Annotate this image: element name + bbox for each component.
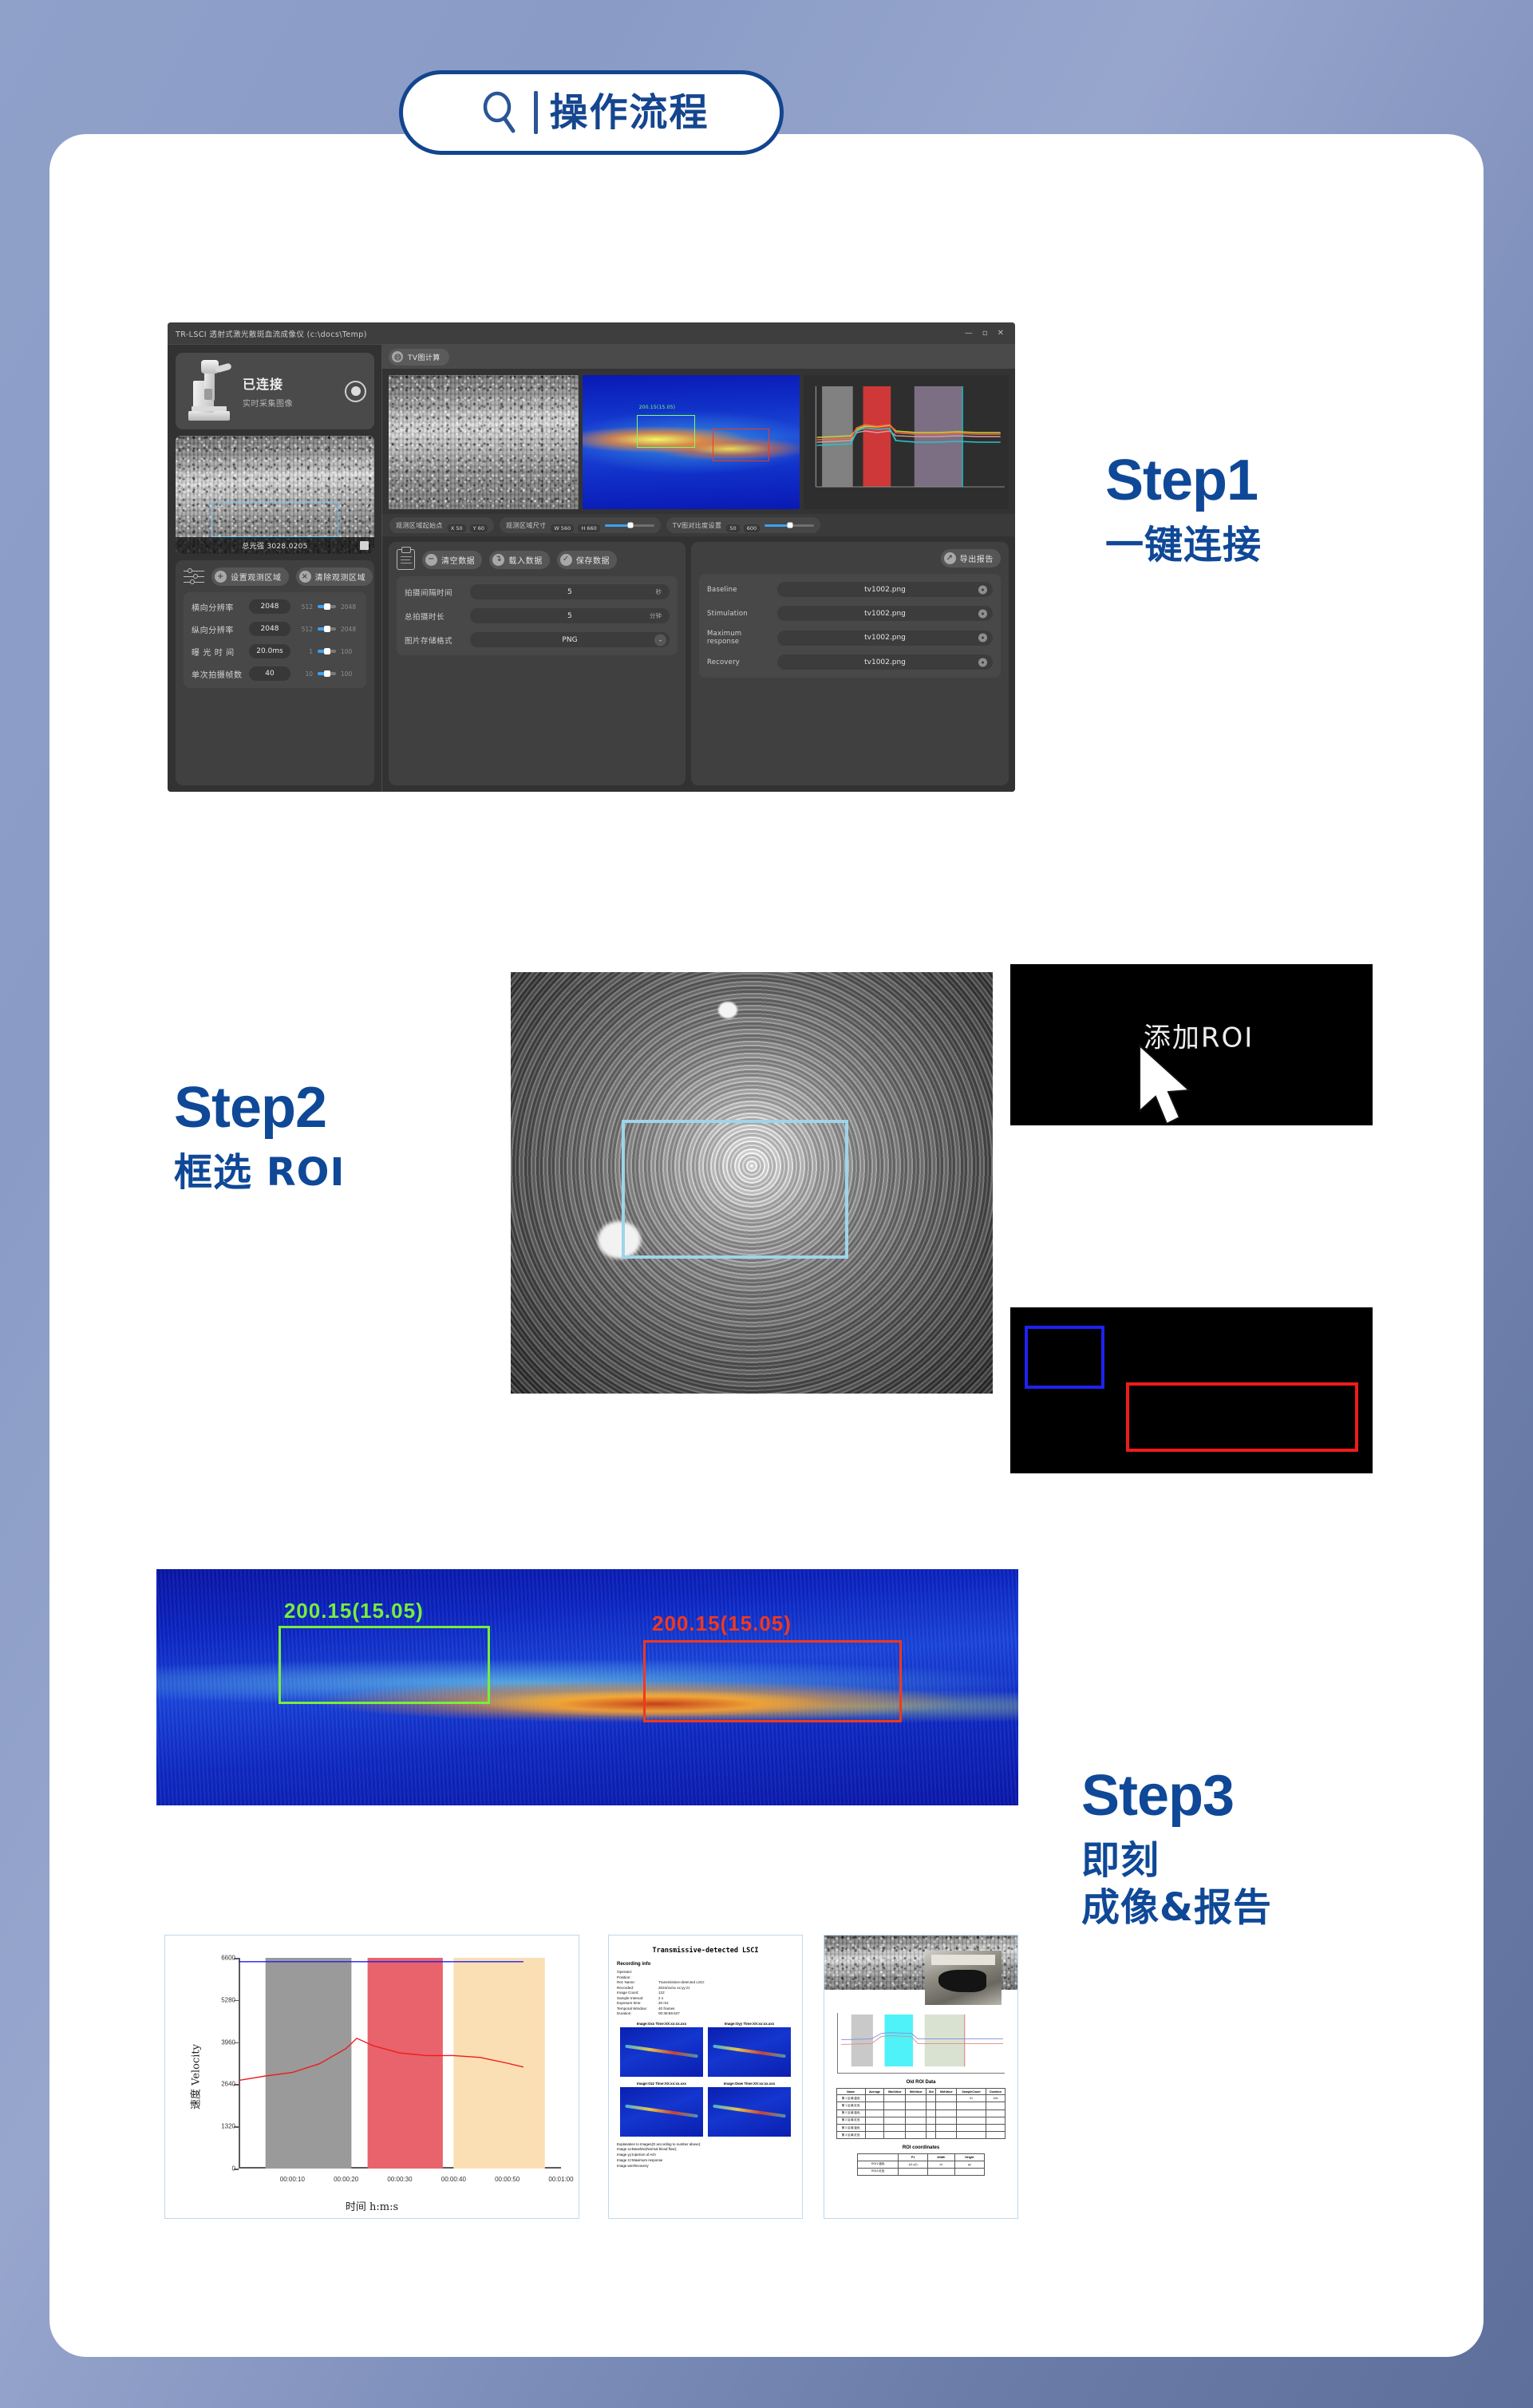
- table-cell: [899, 2168, 928, 2175]
- clear-roi-label: 清除观测区域: [315, 571, 366, 583]
- export-row: ↗ 导出报告: [699, 549, 1001, 567]
- load-data-label: 载入数据: [508, 554, 542, 566]
- step3-heatmap[interactable]: 200.15(15.05) 200.15(15.05): [156, 1569, 1018, 1805]
- report1-field: Exposure time:20 ms: [617, 2001, 802, 2005]
- table-cell: [884, 2117, 906, 2124]
- normal-picture: [925, 1951, 1002, 2005]
- record-icon[interactable]: [345, 381, 366, 402]
- preview-roi-box[interactable]: [211, 502, 338, 537]
- export-report-button[interactable]: ↗ 导出报告: [941, 549, 1001, 567]
- tv-contrast-min[interactable]: 50: [726, 524, 739, 532]
- recovery-row[interactable]: Recovery tv1002.png: [707, 654, 993, 670]
- report1-image-cell: Image:Oww Time:XX:xx:xx.xxx: [708, 2082, 791, 2137]
- table-row: ROI1:蓝色(x1,y1)xxyy: [858, 2161, 985, 2168]
- chart-xtick: 00:01:00: [548, 2176, 573, 2183]
- table-cell: 21: [957, 2095, 986, 2102]
- load-data-button[interactable]: ↴ 载入数据: [489, 551, 549, 569]
- table-cell: [936, 2132, 957, 2139]
- maximum-response-input[interactable]: tv1002.png: [777, 631, 993, 646]
- capture-interval-input[interactable]: 5 秒: [470, 584, 670, 599]
- table-header: Name: [836, 2089, 865, 2095]
- tv-contrast-label: TV图对比度设置: [673, 521, 722, 530]
- step2-speckle-image[interactable]: [511, 972, 993, 1394]
- plus-icon: +: [215, 571, 227, 583]
- page-header-pill: 操作流程: [399, 70, 784, 155]
- table-cell: [957, 2117, 986, 2124]
- timeline-chart-svg: [804, 375, 1009, 509]
- check-circle-icon: ✓: [560, 554, 572, 566]
- table-cell: [906, 2124, 927, 2131]
- capture-duration-input[interactable]: 5 分钟: [470, 608, 670, 623]
- report1-image-cell: Image:Ozz Time:XX:xx:xx.xxx: [620, 2082, 703, 2137]
- heatmap-roi-red[interactable]: [713, 429, 769, 461]
- tab-label: TV图计算: [408, 352, 441, 362]
- slider-value[interactable]: 40: [249, 666, 290, 681]
- capture-duration-label: 总拍摄时长: [405, 611, 464, 622]
- roi-origin-y[interactable]: Y 60: [470, 524, 488, 532]
- connection-card[interactable]: 已连接 实时采集图像: [176, 353, 374, 429]
- step2-number: Step2: [174, 1079, 345, 1137]
- capture-interval-label: 拍摄间隔时间: [405, 587, 464, 598]
- report1-explanation-line: Image xx:Baseline(Normal blood flow);: [617, 2147, 802, 2153]
- report1-explanation-line: Explanation to Images(O according to num…: [617, 2142, 802, 2148]
- heatmap-roi-label: 200.15(15.05): [639, 405, 675, 410]
- set-roi-label: 设置观测区域: [231, 571, 282, 583]
- timeline-chart[interactable]: [804, 375, 1009, 509]
- bottom-area: − 清空数据 ↴ 载入数据 ✓ 保存数据: [382, 536, 1015, 792]
- main-area: TV图计算 200.15(15.05): [381, 345, 1015, 792]
- step3-number: Step3: [1081, 1767, 1272, 1825]
- step1-text-block: Step1 一键连接: [1105, 452, 1262, 569]
- report-panel: ↗ 导出报告 Baseline tv1002.png: [691, 542, 1009, 785]
- minimize-button[interactable]: —: [965, 330, 973, 338]
- tv-contrast-group[interactable]: TV图对比度设置 50 600: [666, 517, 820, 533]
- table-cell: [884, 2109, 906, 2117]
- slider-min: 1: [295, 648, 313, 655]
- tv-contrast-max[interactable]: 600: [744, 524, 760, 532]
- roi-size-group[interactable]: 观测区域尺寸 W 560 H 660: [500, 517, 661, 533]
- report1-caption: Image:Oyy Time:XX:xx:xx.xxx: [708, 2022, 791, 2026]
- table-header: MaxValue: [884, 2089, 906, 2095]
- report1-title: Transmissive-detected LSCI: [609, 1947, 802, 1955]
- baseline-value: tv1002.png: [864, 586, 906, 594]
- tabbar: TV图计算: [382, 345, 1015, 369]
- table-row: 第 3 区域:蓝色: [836, 2124, 1006, 2131]
- table-cell: ROI2:红色: [858, 2168, 899, 2175]
- table-cell: [954, 2168, 984, 2175]
- step2-subtitle: 框选 ROI: [174, 1149, 345, 1196]
- maximum-response-value: tv1002.png: [864, 634, 906, 642]
- slider-value[interactable]: 2048: [249, 622, 290, 636]
- report1-explanation-line: Image ww:Recovery: [617, 2164, 802, 2169]
- table-cell: [884, 2102, 906, 2109]
- table-cell: 42s: [986, 2095, 1006, 2102]
- velocity-chart[interactable]: 速度 Velocity 时间 h:m:s 0132026403960528066…: [164, 1935, 579, 2219]
- minus-circle-icon: −: [425, 554, 437, 566]
- step3-subtitle-line2: 成像&报告: [1081, 1884, 1272, 1932]
- table-cell: [957, 2109, 986, 2117]
- window-body: 已连接 实时采集图像 总光强 3028.0205: [168, 345, 1015, 792]
- roi-size-h[interactable]: H 660: [578, 524, 599, 532]
- acquisition-controls: + 设置观测区域 × 清除观测区域 横向分辨率 2048 512 2048: [176, 560, 374, 785]
- report1-field: Recorded:2024/xx/xx xx:yy:zz: [617, 1986, 802, 1990]
- slider-label: 单次拍摄帧数: [192, 668, 244, 680]
- step3-text-block: Step3 即刻 成像&报告: [1081, 1767, 1272, 1931]
- roi-coordinates-table: P1WidthHeightROI1:蓝色(x1,y1)xxyyROI2:红色: [857, 2153, 985, 2176]
- browse-icon[interactable]: [978, 609, 987, 618]
- maximize-button[interactable]: ▫: [982, 330, 988, 338]
- table-cell: [865, 2117, 884, 2124]
- table-cell: 第 2 区域:红色: [836, 2117, 865, 2124]
- speckle-view[interactable]: [389, 375, 579, 509]
- table-cell: [957, 2124, 986, 2131]
- preview-corner-marker: [360, 541, 369, 550]
- table-header: MidValue: [936, 2089, 957, 2095]
- baseline-label: Baseline: [707, 586, 771, 594]
- stimulation-value: tv1002.png: [864, 610, 906, 618]
- report1-field: Image Count:122: [617, 1991, 802, 1995]
- slider-min: 512: [295, 603, 313, 611]
- stimulation-label: Stimulation: [707, 610, 771, 618]
- chart-xtick: 00:00:50: [495, 2176, 520, 2183]
- table-row: 第 1 区域:蓝色2142s: [836, 2095, 1006, 2102]
- table-row: 第 2 区域:红色: [836, 2117, 1006, 2124]
- baseline-input[interactable]: tv1002.png: [777, 582, 993, 597]
- roi-box-green[interactable]: [279, 1626, 490, 1704]
- report2-chart: [837, 2013, 1005, 2074]
- sliders-icon: [184, 568, 204, 586]
- table-cell: [906, 2095, 927, 2102]
- search-icon: [473, 88, 526, 137]
- close-icon: ×: [299, 571, 311, 583]
- capture-duration-row[interactable]: 总拍摄时长 5 分钟: [405, 608, 670, 623]
- roi-size-slider[interactable]: [605, 524, 654, 527]
- report1-section: Recording info: [617, 1962, 802, 1967]
- recovery-input[interactable]: tv1002.png: [777, 654, 993, 670]
- capture-duration-value: 5: [567, 612, 572, 620]
- stimulation-row[interactable]: Stimulation tv1002.png: [707, 606, 993, 621]
- slider-label: 曝 光 时 间: [192, 646, 244, 658]
- window-controls: — ▫ ✕: [965, 330, 1007, 338]
- slider-track[interactable]: [318, 650, 336, 653]
- table-cell: [986, 2109, 1006, 2117]
- step1-number: Step1: [1105, 452, 1262, 509]
- table-header: Duration: [986, 2089, 1006, 2095]
- save-data-button[interactable]: ✓ 保存数据: [557, 551, 617, 569]
- table-header: [858, 2154, 899, 2161]
- report-thumbnail-2[interactable]: Speckle Picture Normal Picture Old ROI D…: [824, 1935, 1018, 2219]
- report1-field: Duration:00:38:59.527: [617, 2011, 802, 2015]
- sidebar: 已连接 实时采集图像 总光强 3028.0205: [168, 345, 381, 792]
- roi-origin-label: 观测区域起始点: [396, 521, 443, 530]
- tab-tv-calc[interactable]: TV图计算: [389, 349, 449, 366]
- table-row: 第 2 区域:蓝色: [836, 2109, 1006, 2117]
- table-row: ROI2:红色: [858, 2168, 985, 2175]
- table-header: Width: [927, 2154, 954, 2161]
- report1-images: Image:Oxx Time:XX:xx:xx.xxx Image:Oyy Ti…: [609, 2017, 802, 2137]
- lsci-thumbnail: [708, 2027, 791, 2077]
- slider-track[interactable]: [318, 672, 336, 675]
- slider-max: 100: [341, 648, 358, 655]
- slider-label: 纵向分辨率: [192, 623, 244, 635]
- chart-ytick: 2640: [208, 2081, 235, 2088]
- table-cell: [936, 2095, 957, 2102]
- chart-ytick: 1320: [208, 2123, 235, 2130]
- microscope-icon: [184, 360, 236, 422]
- table-cell: [884, 2124, 906, 2131]
- slider-row-v-resolution[interactable]: 纵向分辨率 2048 512 2048: [192, 622, 358, 636]
- roi-selection-box[interactable]: [622, 1120, 848, 1259]
- recovery-label: Recovery: [707, 658, 771, 666]
- table-cell: [906, 2109, 927, 2117]
- table-cell: [927, 2132, 936, 2139]
- step1-subtitle: 一键连接: [1105, 522, 1262, 569]
- table-cell: [884, 2095, 906, 2102]
- tv-contrast-slider[interactable]: [765, 524, 814, 527]
- table-cell: [865, 2109, 884, 2117]
- old-roi-data-table: NameAverageMaxValueMinValueStdMidValueSa…: [836, 2088, 1006, 2139]
- table-cell: [957, 2102, 986, 2109]
- slider-max: 100: [341, 670, 358, 678]
- report1-caption: Image:Ozz Time:XX:xx:xx.xxx: [620, 2082, 703, 2086]
- save-data-label: 保存数据: [576, 554, 610, 566]
- tv-calc-icon: [392, 351, 403, 362]
- chart-ytick: 0: [208, 2165, 235, 2173]
- lsci-thumbnail: [708, 2087, 791, 2137]
- roi-boxes-preview[interactable]: [1010, 1307, 1373, 1473]
- header-divider: [534, 91, 538, 134]
- chart-svg: [239, 1958, 561, 2169]
- table-row: 第 1 区域:红色: [836, 2102, 1006, 2109]
- table-cell: [936, 2102, 957, 2109]
- chart-ytick: 3960: [208, 2038, 235, 2046]
- page-title: 操作流程: [549, 93, 709, 132]
- table-cell: [927, 2102, 936, 2109]
- add-roi-menu[interactable]: 添加ROI: [1010, 964, 1373, 1125]
- report2-table1-title: Old ROI Data: [824, 2080, 1017, 2085]
- maximum-response-row[interactable]: Maximum response tv1002.png: [707, 630, 993, 646]
- table-cell: yy: [954, 2161, 984, 2168]
- table-cell: 第 3 区域:蓝色: [836, 2124, 865, 2131]
- report2-pictures: Speckle Picture Normal Picture: [824, 1935, 1017, 2005]
- table-header: P1: [899, 2154, 928, 2161]
- table-cell: [865, 2095, 884, 2102]
- roi-box-blue[interactable]: [1025, 1326, 1104, 1389]
- application-window[interactable]: TR-LSCI 透射式激光散斑血流成像仪 (c:\docs\Temp) — ▫ …: [168, 322, 1015, 792]
- visualization-area: 200.15(15.05): [382, 369, 1015, 514]
- report1-image-cell: Image:Oxx Time:XX:xx:xx.xxx: [620, 2022, 703, 2077]
- chart-xtick: 00:00:20: [334, 2176, 358, 2183]
- table-cell: [927, 2117, 936, 2124]
- table-cell: [865, 2132, 884, 2139]
- slider-value[interactable]: 20.0ms: [249, 644, 290, 658]
- step3-subtitle-line1: 即刻: [1081, 1837, 1272, 1884]
- table-cell: [865, 2102, 884, 2109]
- tv-heatmap-view[interactable]: 200.15(15.05): [583, 375, 800, 509]
- bright-spot: [718, 1002, 737, 1018]
- chart-plot-area: 01320264039605280660000:00:1000:00:2000:…: [239, 1958, 561, 2169]
- image-format-row[interactable]: 图片存储格式 PNG ⌄: [405, 632, 670, 647]
- chart-ytick: 6600: [208, 1955, 235, 1962]
- slider-label: 横向分辨率: [192, 601, 244, 613]
- set-roi-button[interactable]: + 设置观测区域: [211, 567, 289, 586]
- import-icon: ↴: [492, 554, 504, 566]
- table-cell: [884, 2132, 906, 2139]
- window-title: TR-LSCI 透射式激光散斑血流成像仪 (c:\docs\Temp): [176, 328, 367, 339]
- table-cell: [936, 2109, 957, 2117]
- table-cell: [936, 2124, 957, 2131]
- table-cell: [986, 2102, 1006, 2109]
- table-cell: [986, 2117, 1006, 2124]
- table-row: 第 3 区域:红色: [836, 2132, 1006, 2139]
- table-cell: [865, 2124, 884, 2131]
- report1-field: Temporal Window:40 frames: [617, 2007, 802, 2011]
- heatmap-roi-green[interactable]: [637, 415, 695, 447]
- stimulation-input[interactable]: tv1002.png: [777, 606, 993, 621]
- lsci-thumbnail: [620, 2087, 703, 2137]
- browse-icon[interactable]: [978, 658, 987, 666]
- roi-box-red[interactable]: [1126, 1382, 1358, 1452]
- capture-interval-value: 5: [567, 588, 572, 596]
- connection-state: 已连接: [243, 374, 293, 393]
- table-cell: 第 1 区域:蓝色: [836, 2095, 865, 2102]
- slider-max: 2048: [341, 626, 358, 633]
- clear-roi-button[interactable]: × 清除观测区域: [296, 567, 373, 586]
- window-titlebar: TR-LSCI 透射式激光散斑血流成像仪 (c:\docs\Temp) — ▫ …: [168, 322, 1015, 345]
- roi-box-red[interactable]: [643, 1640, 902, 1723]
- table-cell: [906, 2132, 927, 2139]
- roi-green-label: 200.15(15.05): [284, 1599, 424, 1623]
- options-bar: 观测区域起始点 X 50 Y 60 观测区域尺寸 W 560 H 660: [382, 514, 1015, 536]
- slider-value[interactable]: 2048: [249, 599, 290, 614]
- clear-data-label: 清空数据: [441, 554, 475, 566]
- table-cell: [906, 2102, 927, 2109]
- table-cell: [957, 2132, 986, 2139]
- report1-field: Operator:: [617, 1970, 802, 1974]
- table-cell: [927, 2109, 936, 2117]
- table-header: Height: [954, 2154, 984, 2161]
- roi-size-w[interactable]: W 560: [551, 524, 574, 532]
- export-icon: ↗: [944, 552, 956, 564]
- data-button-row: − 清空数据 ↴ 载入数据 ✓ 保存数据: [397, 549, 678, 570]
- report1-caption: Image:Oww Time:XX:xx:xx.xxx: [708, 2082, 791, 2086]
- capture-panel: − 清空数据 ↴ 载入数据 ✓ 保存数据: [389, 542, 686, 785]
- capture-fields: 拍摄间隔时间 5 秒 总拍摄时长 5 分钟: [397, 576, 678, 655]
- clipboard-icon: [397, 549, 415, 570]
- capture-interval-unit: 秒: [656, 587, 662, 596]
- table-cell: ROI1:蓝色: [858, 2161, 899, 2168]
- slider-row-frames[interactable]: 单次拍摄帧数 40 10 100: [192, 666, 358, 681]
- report1-field: Rec Name:Transmissive-detected LSCI: [617, 1980, 802, 1984]
- baseline-row[interactable]: Baseline tv1002.png: [707, 582, 993, 597]
- chart-xtick: 00:00:30: [387, 2176, 412, 2183]
- report-fields: Baseline tv1002.png Stimulation tv1002.p…: [699, 574, 1001, 678]
- slider-min: 512: [295, 626, 313, 633]
- table-cell: [927, 2124, 936, 2131]
- browse-icon[interactable]: [978, 634, 987, 643]
- chart-xtick: 00:00:40: [441, 2176, 466, 2183]
- step3-subtitle: 即刻 成像&报告: [1081, 1837, 1272, 1931]
- table-header: SampleCount: [957, 2089, 986, 2095]
- report1-explanation: Explanation to Images(O according to num…: [617, 2142, 802, 2169]
- capture-duration-unit: 分钟: [650, 611, 662, 620]
- maximum-response-label: Maximum response: [707, 630, 771, 646]
- chevron-down-icon[interactable]: ⌄: [654, 634, 666, 646]
- slider-row-h-resolution[interactable]: 横向分辨率 2048 512 2048: [192, 599, 358, 614]
- table-cell: [927, 2168, 954, 2175]
- report1-field: Sample Interval:2 s: [617, 1996, 802, 2000]
- slider-row-exposure[interactable]: 曝 光 时 间 20.0ms 1 100: [192, 644, 358, 658]
- roi-red-label: 200.15(15.05): [652, 1611, 792, 1636]
- clear-data-button[interactable]: − 清空数据: [422, 551, 482, 569]
- table-cell: xx: [927, 2161, 954, 2168]
- image-format-select[interactable]: PNG ⌄: [470, 632, 670, 647]
- table-cell: [927, 2095, 936, 2102]
- image-format-value: PNG: [562, 636, 577, 644]
- table-header: MinValue: [906, 2089, 927, 2095]
- report2-table2-title: ROI coordinates: [824, 2145, 1017, 2150]
- capture-interval-row[interactable]: 拍摄间隔时间 5 秒: [405, 584, 670, 599]
- table-cell: [986, 2132, 1006, 2139]
- report-thumbnail-1[interactable]: Transmissive-detected LSCI Recording inf…: [608, 1935, 803, 2219]
- report1-image-cell: Image:Oyy Time:XX:xx:xx.xxx: [708, 2022, 791, 2077]
- chart-ylabel: 速度 Velocity: [188, 2044, 203, 2109]
- slider-max: 2048: [341, 603, 358, 611]
- export-report-label: 导出报告: [960, 552, 994, 564]
- lsci-thumbnail: [620, 2027, 703, 2077]
- close-button[interactable]: ✕: [998, 330, 1004, 338]
- connection-subtitle: 实时采集图像: [243, 397, 293, 409]
- report1-explanation-line: Image yy:Injection of Ach: [617, 2153, 802, 2158]
- roi-origin-x[interactable]: X 50: [448, 524, 466, 532]
- slider-track[interactable]: [318, 627, 336, 631]
- table-cell: [986, 2124, 1006, 2131]
- slider-track[interactable]: [318, 605, 336, 608]
- table-cell: [936, 2117, 957, 2124]
- roi-origin-group[interactable]: 观测区域起始点 X 50 Y 60: [389, 517, 494, 533]
- table-header: Std: [927, 2089, 936, 2095]
- step2-text-block: Step2 框选 ROI: [174, 1079, 345, 1196]
- table-cell: [906, 2117, 927, 2124]
- roi-button-row: + 设置观测区域 × 清除观测区域: [184, 567, 366, 586]
- report1-explanation-line: Image zz:Maximum response: [617, 2158, 802, 2164]
- browse-icon[interactable]: [978, 585, 987, 594]
- chart-ytick: 5280: [208, 1996, 235, 2003]
- report1-field: Position:: [617, 1975, 802, 1979]
- table-cell: 第 3 区域:红色: [836, 2132, 865, 2139]
- table-header: Average: [865, 2089, 884, 2095]
- live-preview[interactable]: 总光强 3028.0205: [176, 436, 374, 554]
- table-cell: 第 2 区域:蓝色: [836, 2109, 865, 2117]
- slider-list: 横向分辨率 2048 512 2048 纵向分辨率 2048 512 2048: [184, 592, 366, 688]
- report1-fields: Operator:Position:Rec Name:Transmissive-…: [609, 1970, 802, 2015]
- table-cell: (x1,y1): [899, 2161, 928, 2168]
- report1-caption: Image:Oxx Time:XX:xx:xx.xxx: [620, 2022, 703, 2026]
- slider-min: 10: [295, 670, 313, 678]
- chart-xlabel: 时间 h:m:s: [165, 2198, 579, 2213]
- table-cell: 第 1 区域:红色: [836, 2102, 865, 2109]
- chart-xtick: 00:00:10: [280, 2176, 305, 2183]
- image-format-label: 图片存储格式: [405, 635, 464, 646]
- recovery-value: tv1002.png: [864, 658, 906, 666]
- light-intensity-label: 总光强 3028.0205: [176, 537, 374, 554]
- roi-size-label: 观测区域尺寸: [506, 521, 546, 530]
